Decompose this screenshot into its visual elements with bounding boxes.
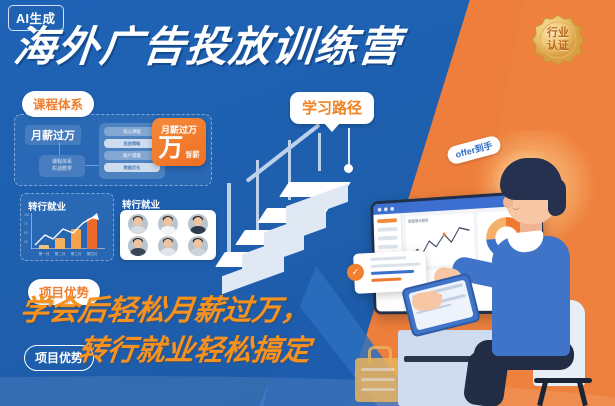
poster-canvas: AI生成 海外广告投放训练营 行业 认证 课程体系 — [0, 0, 615, 406]
slogan-line-1: 学会后轻松月薪过万， — [18, 297, 312, 326]
diagram-connector-v — [59, 143, 60, 155]
sub-node-line2: 实战教学 — [52, 166, 72, 174]
avatar — [188, 236, 208, 256]
sidebar-item[interactable] — [378, 236, 398, 241]
person-body — [492, 236, 570, 356]
students-title: 转行就业 — [122, 197, 160, 211]
chart-xtick: 第一月 — [37, 252, 51, 257]
sidebar-item[interactable] — [378, 244, 398, 249]
employment-bar-chart: 转行就业 100 75 50 25 第一月 第二月 第三月 第四月 — [20, 193, 114, 261]
sidebar-item-active[interactable] — [377, 218, 397, 223]
avatar — [158, 214, 178, 234]
chair-base — [534, 378, 592, 383]
sidebar-item[interactable] — [377, 227, 397, 232]
popup-progress-orange — [371, 277, 401, 282]
avatar — [128, 236, 148, 256]
chart-ytick: 75 — [24, 222, 28, 226]
window-dot-icon — [390, 206, 394, 210]
chart-ytick: 50 — [24, 231, 28, 235]
mid-panel-row: 数据优化 — [104, 163, 160, 172]
suitcase-illustration — [355, 358, 401, 402]
chart-xtick: 第二月 — [53, 252, 67, 257]
avatar — [158, 236, 178, 256]
seal-line1: 行业 — [547, 27, 569, 40]
person-hair-side — [548, 178, 566, 216]
seal-line2: 认证 — [547, 40, 569, 53]
suitcase-handle — [368, 346, 392, 363]
course-node-label: 月薪过万 — [25, 125, 81, 145]
popup-text-line — [370, 256, 406, 261]
window-dot-icon — [378, 207, 382, 211]
chart-xtick: 第四月 — [85, 252, 99, 257]
chart-ytick: 25 — [24, 240, 28, 244]
chart-ytick: 100 — [24, 213, 29, 217]
page-title: 海外广告投放训练营 — [12, 26, 403, 68]
popup-progress-blue — [371, 270, 414, 275]
industry-certification-seal: 行业 认证 — [531, 13, 585, 67]
salary-highlight-card: 月薪过万 万 월薪 — [152, 118, 206, 166]
course-sub-node: 课程体系 实战教学 — [39, 155, 85, 177]
window-dot-icon — [384, 207, 388, 211]
salary-unit: 월薪 — [185, 151, 199, 161]
check-badge-icon: ✓ — [347, 263, 365, 281]
bubble-pointer-line — [348, 128, 350, 168]
diagram-connector-h — [85, 165, 99, 166]
sub-node-line1: 课程体系 — [52, 159, 72, 167]
person-lower-leg — [462, 349, 509, 406]
bubble-pointer-dot — [344, 164, 353, 173]
salary-card-value: 万 월薪 — [158, 137, 199, 161]
chart-trend-line — [31, 213, 105, 249]
learning-path-bubble: 学习路径 — [290, 92, 374, 124]
slogan-line-2: 转行就业轻松搞定 — [76, 337, 312, 366]
students-avatar-grid — [120, 210, 216, 260]
avatar — [128, 214, 148, 234]
avatar — [188, 214, 208, 234]
seal-text: 行业 认证 — [531, 13, 585, 67]
chart-plot-area: 100 75 50 25 第一月 第二月 第三月 第四月 — [31, 213, 105, 249]
salary-big-char: 万 — [158, 137, 183, 161]
chart-title: 转行就业 — [28, 199, 66, 213]
popup-text-line — [371, 262, 421, 268]
chart-xtick: 第三月 — [69, 252, 83, 257]
